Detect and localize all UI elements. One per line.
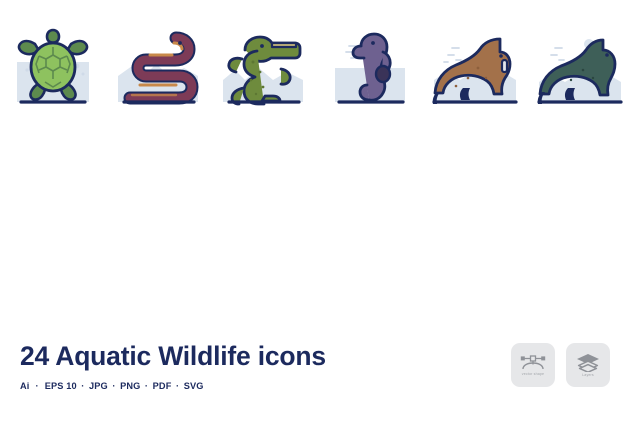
format-separator: ·: [108, 381, 120, 391]
format-pdf: PDF: [153, 381, 172, 391]
eel-icon: [110, 22, 206, 110]
format-ai: Ai: [20, 381, 30, 391]
crocodile-icon: [215, 22, 311, 110]
format-separator: ·: [140, 381, 152, 391]
page-title: 24 Aquatic Wildlife icons: [20, 342, 420, 372]
sea-lion-icon: [531, 22, 627, 110]
format-separator: ·: [171, 381, 183, 391]
format-separator: ·: [77, 381, 89, 391]
format-eps10: EPS 10: [45, 381, 77, 391]
format-jpg: JPG: [89, 381, 108, 391]
badge-layers[interactable]: Layers: [566, 343, 610, 387]
format-list: Ai · EPS 10 · JPG · PNG · PDF · SVG: [20, 381, 420, 391]
icon-cell-walrus[interactable]: [421, 20, 526, 110]
icon-cell-sea-lion[interactable]: [527, 20, 632, 110]
format-svg: SVG: [184, 381, 204, 391]
icon-showcase-row: [0, 20, 632, 110]
walrus-icon: [426, 22, 522, 110]
badge-label-vector-shape: vector shape: [522, 373, 544, 377]
title-block: 24 Aquatic Wildlife icons Ai · EPS 10 · …: [20, 342, 420, 391]
icon-cell-crocodile[interactable]: [211, 20, 316, 110]
icon-cell-eel[interactable]: [105, 20, 210, 110]
badge-row: vector shape Layers: [511, 343, 610, 387]
format-separator: ·: [30, 381, 45, 391]
icon-cell-sea-turtle[interactable]: [0, 20, 105, 110]
bezier-curve-icon: [520, 354, 546, 371]
seahorse-icon: [321, 22, 417, 110]
layers-stack-icon: [576, 353, 600, 372]
badge-vector-shape[interactable]: vector shape: [511, 343, 555, 387]
sea-turtle-icon: [5, 22, 101, 110]
icon-cell-seahorse[interactable]: [316, 20, 421, 110]
badge-label-layers: Layers: [582, 374, 594, 378]
format-png: PNG: [120, 381, 140, 391]
